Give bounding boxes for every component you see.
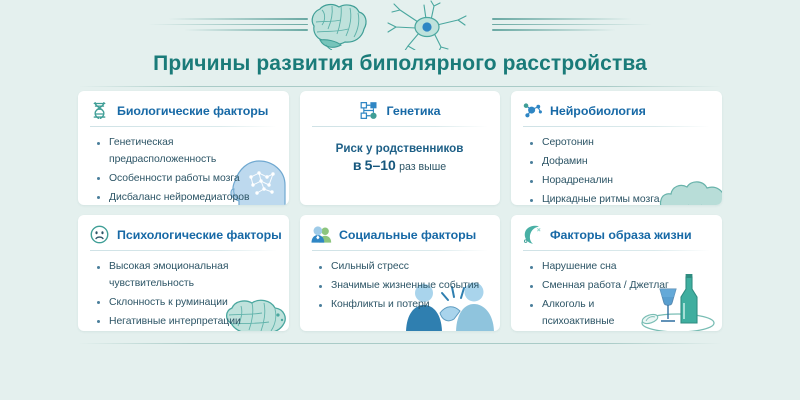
card-lifestyle[interactable]: Факторы образа жизни Нарушение сна Сменн…	[511, 215, 722, 331]
card-header: Нейробиология	[522, 100, 710, 121]
card-header: Социальные факторы	[311, 224, 488, 245]
list-item: Сильный стресс	[319, 259, 488, 276]
people-icon	[311, 224, 332, 245]
list-item: Склонность к руминации	[97, 295, 277, 312]
genetics-stat-suffix: раз выше	[399, 161, 446, 173]
list-item: Значимые жизненные события	[319, 278, 488, 295]
genetics-stat-value: 5–10	[365, 157, 396, 173]
divider-top	[78, 86, 722, 87]
cards-grid: Биологические факторы Генетическая предр…	[78, 91, 722, 331]
speed-lines-left	[148, 18, 308, 34]
genetics-stat-line1: Риск у родственников	[311, 140, 488, 157]
header-divider	[523, 250, 710, 251]
card-psychological[interactable]: Психологические факторы Высокая эмоциона…	[78, 215, 289, 331]
genetics-stat: Риск у родственников в 5–10 раз выше	[311, 140, 488, 176]
bullet-list: Высокая эмоциональная чувствительность С…	[97, 259, 277, 331]
card-title: Факторы образа жизни	[550, 228, 692, 242]
brain-neuron-illustration	[300, 0, 500, 50]
list-item: Норадреналин	[530, 173, 710, 190]
header-divider	[90, 126, 277, 127]
list-item: Нарушение сна	[530, 259, 710, 276]
divider-bottom	[78, 343, 722, 344]
list-item: Негативные интерпретации событий	[97, 314, 277, 332]
bullet-list: Нарушение сна Сменная работа / Джетлаг А…	[530, 259, 710, 331]
list-item: Серотонин	[530, 135, 710, 152]
list-item: Сменная работа / Джетлаг	[530, 278, 710, 295]
list-item: Алкоголь и психоактивные вещества	[530, 297, 658, 331]
page-title: Причины развития биполярного расстройств…	[0, 52, 800, 76]
card-title: Нейробиология	[550, 104, 646, 118]
pedigree-icon	[359, 100, 380, 121]
list-item: Высокая эмоциональная чувствительность	[97, 259, 277, 292]
card-header: Факторы образа жизни	[522, 224, 710, 245]
header-divider	[312, 126, 488, 127]
cards-row-1: Биологические факторы Генетическая предр…	[78, 91, 722, 205]
card-title: Биологические факторы	[117, 104, 268, 118]
molecule-icon	[522, 100, 543, 121]
list-item: Циркадные ритмы мозга	[530, 192, 710, 205]
bullet-list: Серотонин Дофамин Норадреналин Циркадные…	[530, 135, 710, 205]
card-header: Психологические факторы	[89, 224, 277, 245]
card-title: Психологические факторы	[117, 228, 282, 242]
genetics-stat-prefix: в	[353, 157, 362, 173]
card-header: Биологические факторы	[89, 100, 277, 121]
header-divider	[523, 126, 710, 127]
card-header: Генетика	[311, 100, 488, 121]
genetics-stat-line2: в 5–10 раз выше	[311, 157, 488, 176]
list-item: Дисбаланс нейромедиаторов	[97, 190, 277, 206]
card-genetics[interactable]: Генетика Риск у родственников в 5–10 раз…	[300, 91, 500, 205]
hero-header	[0, 0, 800, 52]
sparkle	[537, 228, 540, 231]
speed-lines-right	[492, 18, 652, 34]
bullet-list: Генетическая предрасположенность Особенн…	[97, 135, 277, 205]
list-item: Особенности работы мозга	[97, 171, 277, 188]
sad-face-icon	[89, 224, 110, 245]
list-item: Дофамин	[530, 154, 710, 171]
list-item: Конфликты и потери	[319, 297, 488, 314]
bullet-list: Сильный стресс Значимые жизненные событи…	[319, 259, 488, 314]
dna-icon	[89, 100, 110, 121]
list-item: Генетическая предрасположенность	[97, 135, 277, 168]
card-title: Социальные факторы	[339, 228, 476, 242]
cards-row-2: Психологические факторы Высокая эмоциона…	[78, 215, 722, 331]
card-neurobiology[interactable]: Нейробиология Серотонин Дофамин Норадрен…	[511, 91, 722, 205]
header-divider	[312, 250, 488, 251]
card-biological[interactable]: Биологические факторы Генетическая предр…	[78, 91, 289, 205]
infographic-page: Причины развития биполярного расстройств…	[0, 0, 800, 400]
card-title: Генетика	[387, 104, 441, 118]
card-social[interactable]: Социальные факторы Сильный стресс Значим…	[300, 215, 500, 331]
moon-icon	[522, 224, 543, 245]
brain-illustration	[312, 5, 366, 50]
header-divider	[90, 250, 277, 251]
